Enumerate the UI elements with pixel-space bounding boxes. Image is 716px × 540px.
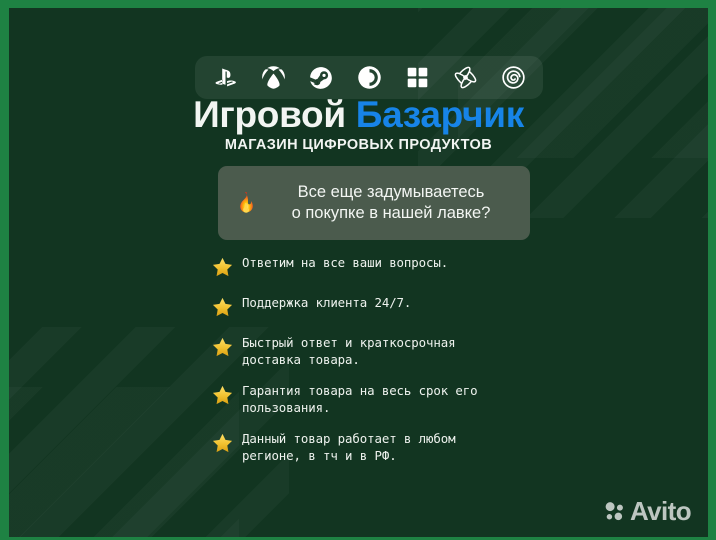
feature-line-1: Быстрый ответ и краткосрочная [242,335,539,352]
platform-icon-bar [195,56,543,99]
feature-line-2: регионе, в тч и в РФ. [242,448,539,465]
star-emoji [209,382,235,408]
ea-origin-icon [355,64,383,92]
avito-watermark: Avito [604,498,691,524]
brand-title-block: Игровой Базарчик МАГАЗИН ЦИФРОВЫХ ПРОДУК… [9,96,708,153]
feature-line-1: Гарантия товара на весь срок его [242,383,539,400]
page-title: Игровой Базарчик [9,96,708,135]
star-emoji [209,334,235,360]
list-item-text: Поддержка клиента 24/7. [242,293,539,312]
list-item: Поддержка клиента 24/7. [209,293,539,320]
list-item-text: Данный товар работает в любом регионе, в… [242,429,539,464]
windows-icon [403,64,431,92]
list-item-text: Ответим на все ваши вопросы. [242,253,539,272]
avito-logo-icon [604,501,625,522]
ubisoft-icon [499,64,527,92]
poster-inner-panel: Игровой Базарчик МАГАЗИН ЦИФРОВЫХ ПРОДУК… [9,8,708,537]
list-item: Данный товар работает в любом регионе, в… [209,429,539,464]
feature-line-1: Данный товар работает в любом [242,431,539,448]
feature-line-2: доставка товара. [242,352,539,369]
star-emoji [209,294,235,320]
star-emoji [209,430,235,456]
question-banner: Все еще задумываетесь о покупке в нашей … [218,166,530,240]
list-item-text: Быстрый ответ и краткосрочная доставка т… [242,333,539,368]
battlenet-icon [451,64,479,92]
feature-line-2: пользования. [242,400,539,417]
page-subtitle: МАГАЗИН ЦИФРОВЫХ ПРОДУКТОВ [9,137,708,153]
feature-line-1: Поддержка клиента 24/7. [242,295,411,310]
xbox-icon [259,64,287,92]
banner-line-2: о покупке в нашей лавке? [266,203,516,224]
feature-list: Ответим на все ваши вопросы. Поддержка к… [209,253,539,477]
list-item: Гарантия товара на весь срок его пользов… [209,381,539,416]
banner-text: Все еще задумываетесь о покупке в нашей … [266,182,516,224]
list-item: Быстрый ответ и краткосрочная доставка т… [209,333,539,368]
banner-line-1: Все еще задумываетесь [298,183,485,201]
poster-canvas: Игровой Базарчик МАГАЗИН ЦИФРОВЫХ ПРОДУК… [0,0,716,540]
decorative-stripes-bottom-left-2 [9,387,239,537]
playstation-icon [211,64,239,92]
star-emoji [209,254,235,280]
avito-wordmark: Avito [630,498,691,524]
fire-emoji [230,188,260,218]
title-word-primary: Игровой [193,94,346,135]
feature-line-1: Ответим на все ваши вопросы. [242,255,448,270]
steam-icon [307,64,335,92]
list-item: Ответим на все ваши вопросы. [209,253,539,280]
title-word-accent: Базарчик [356,94,524,135]
list-item-text: Гарантия товара на весь срок его пользов… [242,381,539,416]
